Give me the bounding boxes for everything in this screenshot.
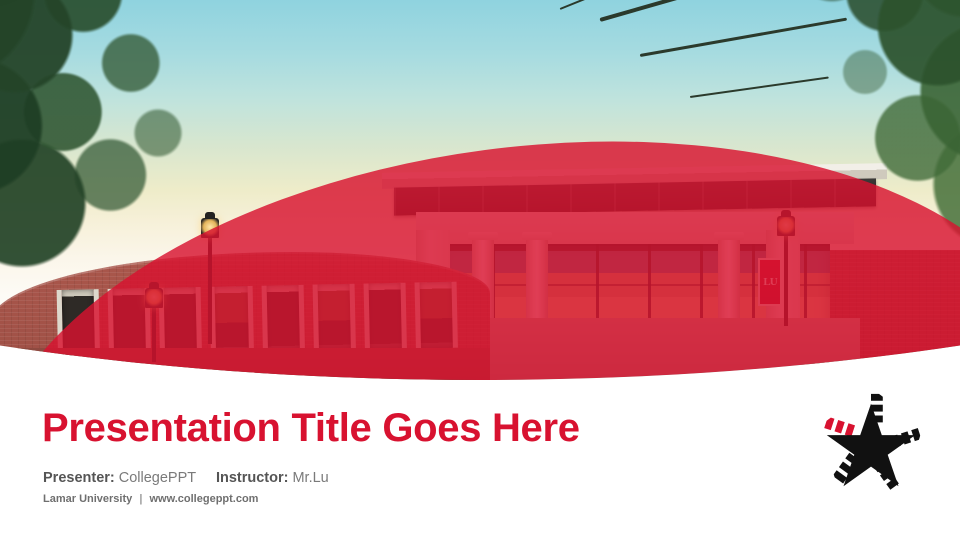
lamar-university-logo [812,388,930,500]
footer-line: Lamar University | www.collegeppt.com [43,493,258,505]
footer-organization: Lamar University [43,493,132,505]
title-slide: LU Presentation Title Goes Here Presente… [0,0,960,540]
footer-separator: | [135,493,146,505]
instructor-value: Mr.Lu [292,470,328,486]
page-title: Presentation Title Goes Here [42,406,580,450]
presenter-value: CollegePPT [119,470,196,486]
instructor-label: Instructor: [216,470,289,486]
footer-website: www.collegeppt.com [149,493,258,505]
campus-building-photo: LU [0,0,960,380]
logo-svg [812,388,930,500]
red-curve-banner [0,0,960,380]
byline: Presenter: CollegePPT Instructor: Mr.Lu [43,470,329,486]
presenter-label: Presenter: [43,470,115,486]
red-curve-fill [0,79,960,380]
